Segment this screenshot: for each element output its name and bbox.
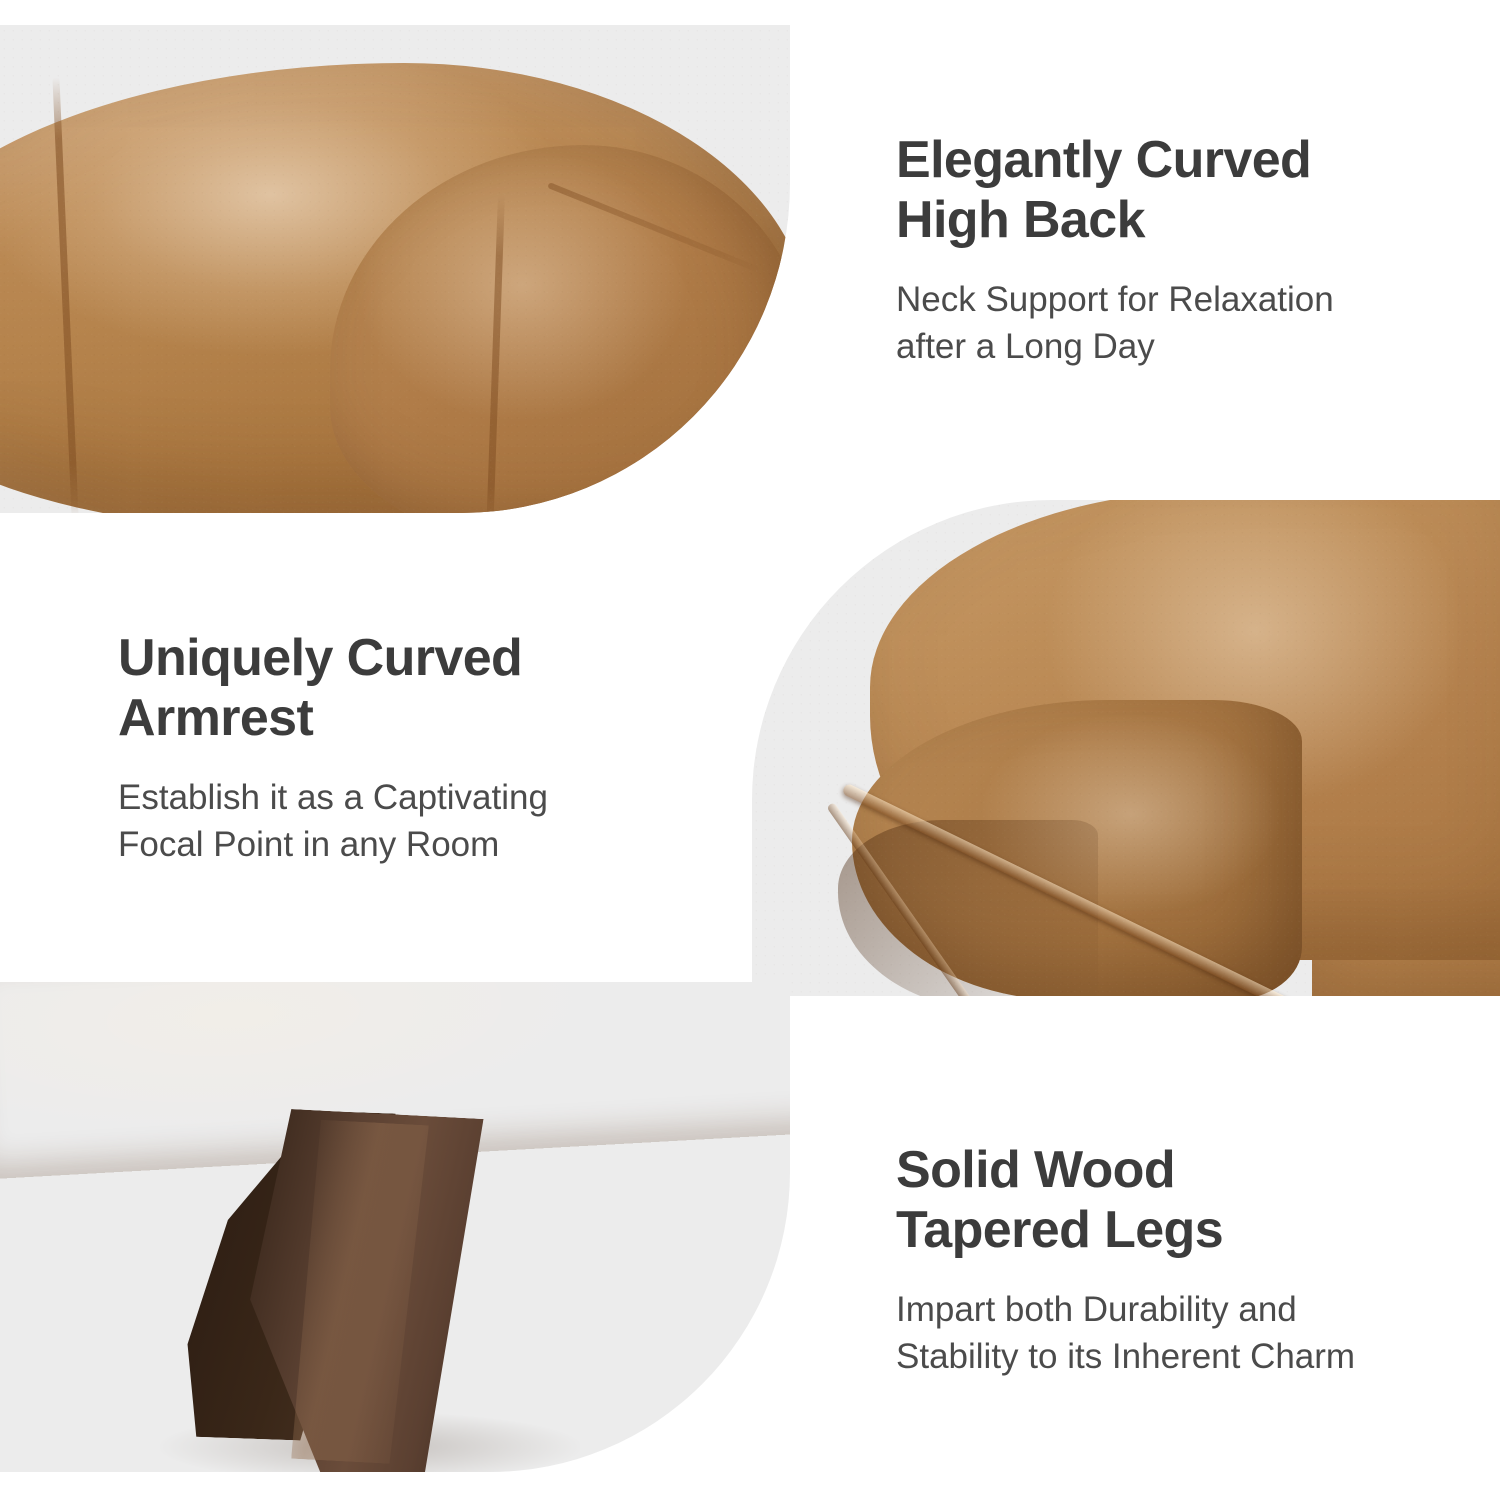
feature-title-legs: Solid Wood Tapered Legs [896, 1140, 1456, 1261]
feature-text-high-back: Elegantly Curved High Back Neck Support … [896, 130, 1436, 370]
feature-image-armrest [752, 500, 1500, 996]
feature-title-armrest: Uniquely Curved Armrest [118, 628, 638, 749]
feature-description-legs: Impart both Durability and Stability to … [896, 1287, 1456, 1381]
feature-image-high-back [0, 25, 790, 513]
feature-description-armrest: Establish it as a Captivating Focal Poin… [118, 775, 638, 869]
feature-description-high-back: Neck Support for Relaxation after a Long… [896, 277, 1436, 371]
high-back-photo [0, 25, 790, 513]
feature-image-legs [0, 982, 790, 1472]
leather-grain-texture [752, 500, 1500, 996]
product-feature-infographic: Elegantly Curved High Back Neck Support … [0, 0, 1500, 1500]
feature-text-legs: Solid Wood Tapered Legs Impart both Dura… [896, 1140, 1456, 1380]
feature-title-high-back: Elegantly Curved High Back [896, 130, 1436, 251]
leather-grain-texture [0, 25, 790, 513]
legs-photo [0, 982, 790, 1472]
feature-text-armrest: Uniquely Curved Armrest Establish it as … [118, 628, 638, 868]
armrest-photo [752, 500, 1500, 996]
